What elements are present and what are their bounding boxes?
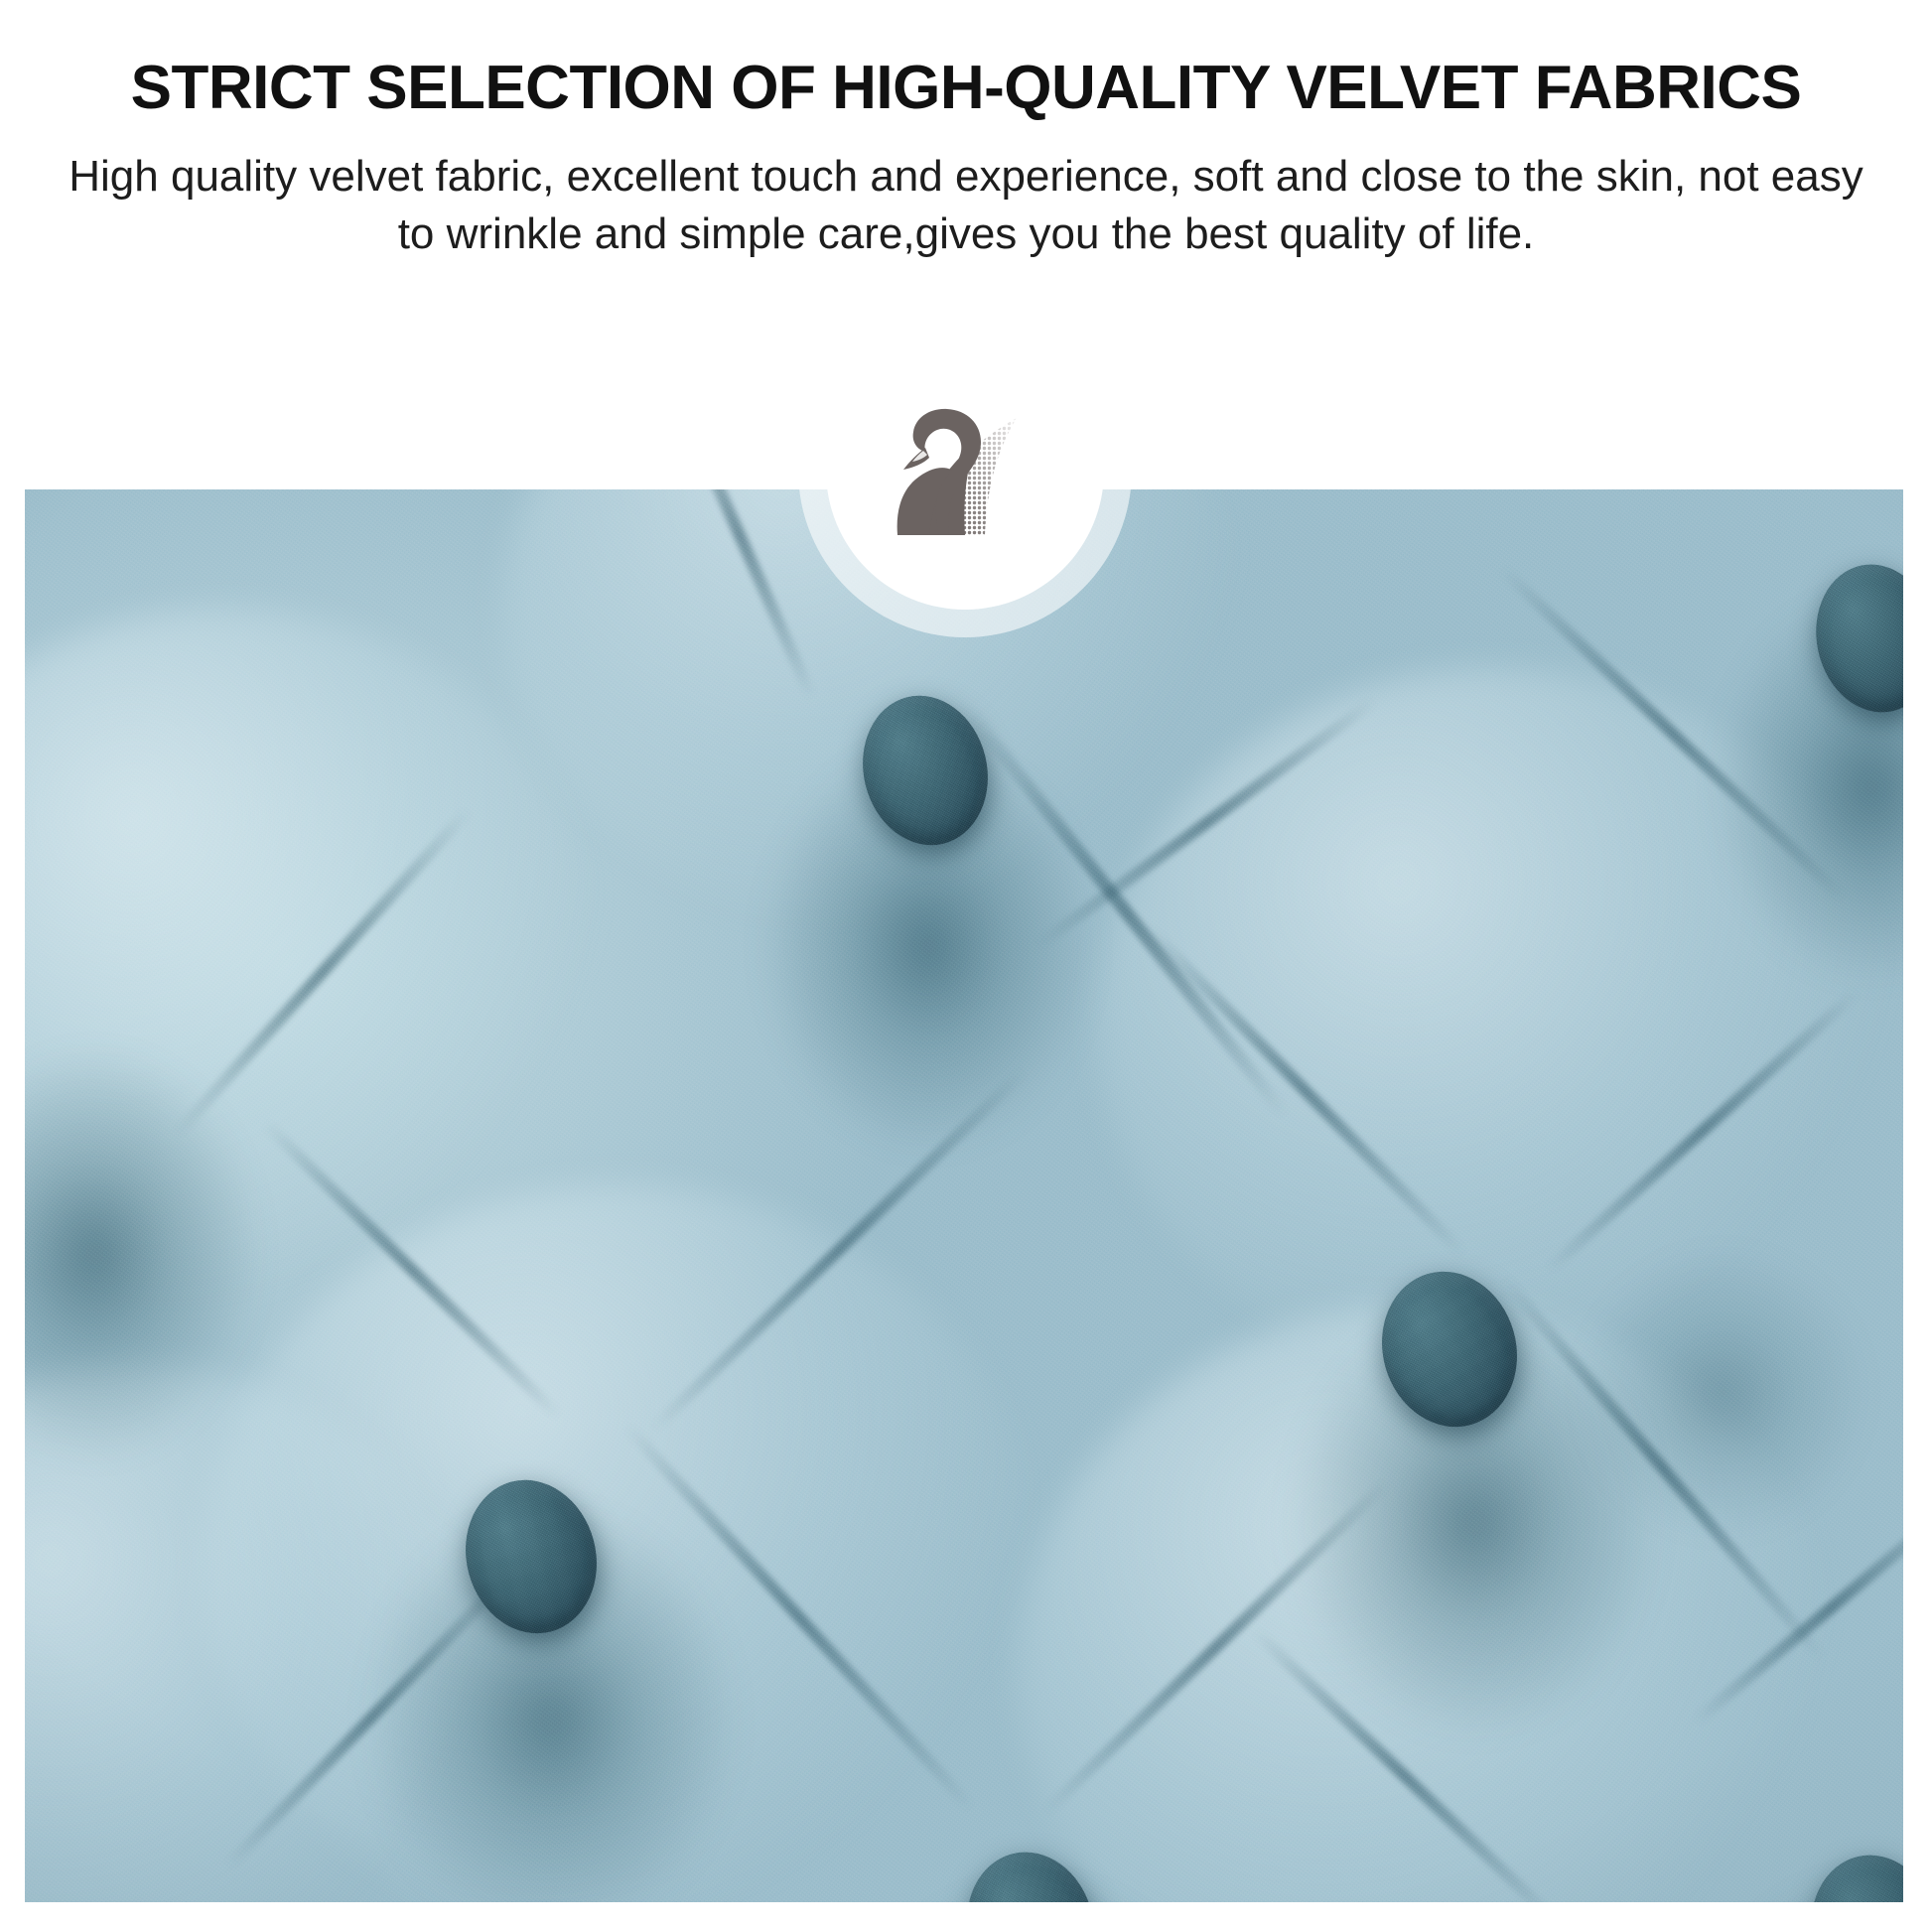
page-subtitle: High quality velvet fabric, excellent to… — [0, 148, 1932, 264]
page-title: STRICT SELECTION OF HIGH-QUALITY VELVET … — [0, 56, 1932, 122]
photo-vignette — [25, 489, 1903, 1902]
tufted-velvet-fabric-photo — [25, 489, 1903, 1902]
brand-badge — [798, 304, 1132, 637]
swan-logo-icon — [868, 396, 1062, 545]
brand-badge-inner — [826, 332, 1104, 610]
header-text-block: STRICT SELECTION OF HIGH-QUALITY VELVET … — [0, 0, 1932, 264]
